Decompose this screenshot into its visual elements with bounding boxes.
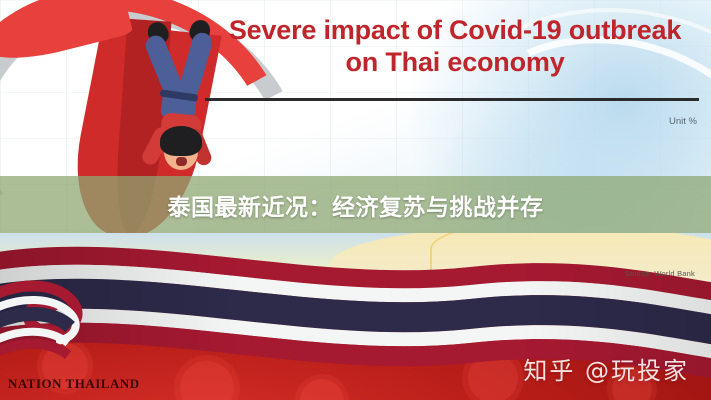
screenshot-root: Severe impact of Covid-19 outbreak on Th… xyxy=(0,0,711,400)
title-line-2: on Thai economy xyxy=(205,46,705,78)
eye-right xyxy=(185,149,189,154)
data-table: 2020 2021 2022 GDP -3 to -5 4 3.5 Povert… xyxy=(196,132,696,160)
source-label: Source: World Bank xyxy=(625,269,695,278)
infographic-title: Severe impact of Covid-19 outbreak on Th… xyxy=(205,14,705,78)
watermark-text: 知乎 @玩投家 xyxy=(523,351,689,386)
nation-thailand-logo: NATION THAILAND xyxy=(8,376,140,392)
headline-text: 泰国最新近况：经济复苏与挑战并存 xyxy=(0,176,711,233)
title-divider xyxy=(205,98,699,101)
flag-panel: Source: World Bank 知乎 @玩投家 NATION THAILA… xyxy=(0,233,711,400)
mouth xyxy=(176,157,187,166)
eye-left xyxy=(171,149,175,154)
title-line-1: Severe impact of Covid-19 outbreak xyxy=(205,14,705,46)
unit-label: Unit % xyxy=(669,116,697,127)
